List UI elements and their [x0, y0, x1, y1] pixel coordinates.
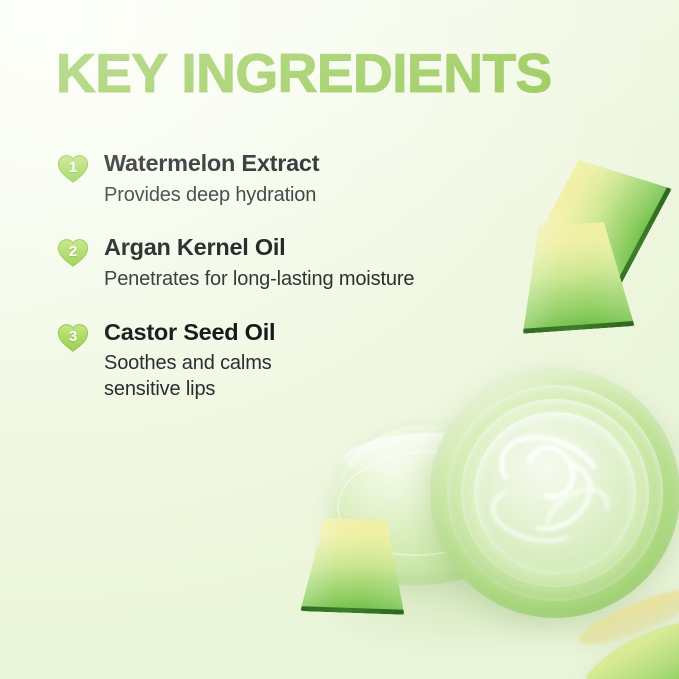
text-content: KEY INGREDIENTS 1 — [0, 0, 679, 679]
heart-icon: 2 — [56, 236, 90, 268]
page-title: KEY INGREDIENTS — [56, 46, 552, 101]
ingredient-description: Soothes and calms sensitive lips — [104, 351, 526, 402]
ingredient-title: Castor Seed Oil — [104, 319, 526, 347]
ingredient-description: Provides deep hydration — [104, 183, 526, 209]
heart-icon: 3 — [56, 321, 90, 353]
heart-icon: 1 — [56, 152, 90, 184]
key-ingredients-poster: KEY INGREDIENTS 1 — [0, 0, 679, 679]
ingredient-description: Penetrates for long-lasting moisture — [104, 267, 526, 293]
list-item: 1 Watermelon Extract Provides deep hydra… — [56, 150, 526, 208]
list-item: 3 Castor Seed Oil Soothes and calms sens… — [56, 319, 526, 403]
ingredient-title: Argan Kernel Oil — [104, 234, 526, 262]
list-item: 2 Argan Kernel Oil Penetrates for long-l… — [56, 234, 526, 292]
ingredient-title: Watermelon Extract — [104, 150, 526, 178]
ingredients-list: 1 Watermelon Extract Provides deep hydra… — [56, 150, 526, 403]
